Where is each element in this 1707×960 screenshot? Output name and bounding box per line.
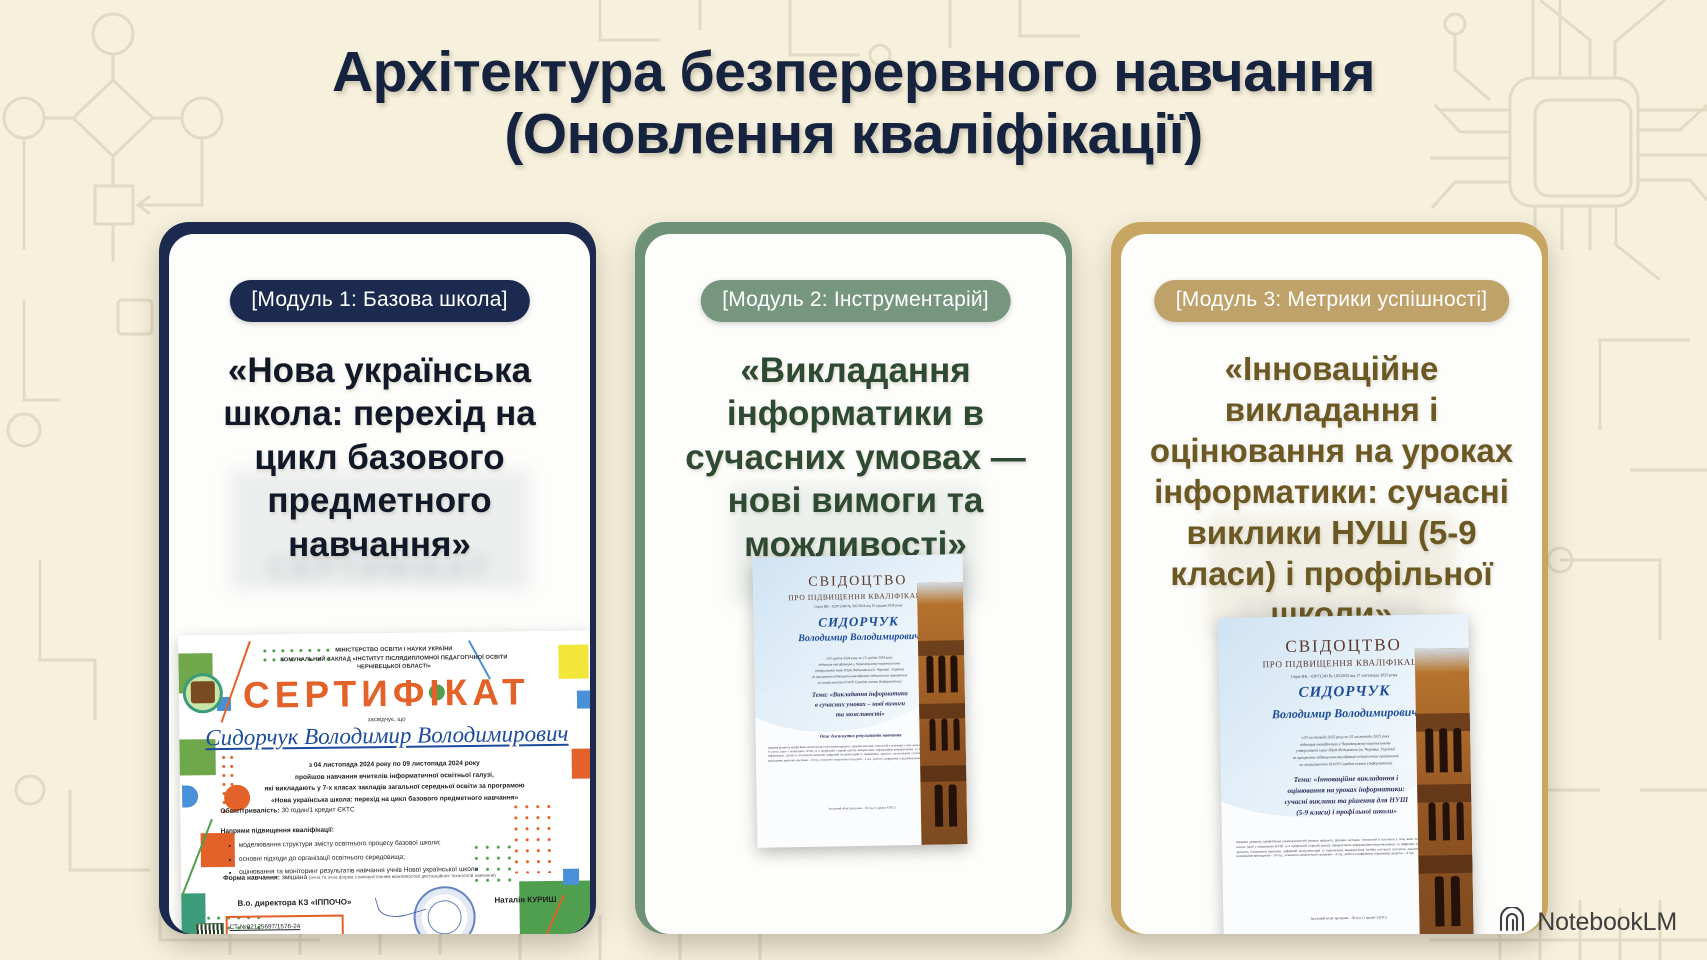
tower-window [941, 719, 948, 751]
form-value: змішана [282, 874, 307, 881]
tower-window [950, 656, 958, 693]
certificate-image-3: СВІДОЦТВО ПРО ПІДВИЩЕННЯ КВАЛІФІКАЦІЇ Се… [1218, 614, 1474, 934]
certificate-1-body: з 04 листопада 2024 року по 09 листопада… [220, 757, 570, 807]
tower-window [1428, 802, 1436, 841]
module-card-2-inner: СЕРТИФІКАТ [Модуль 2: Інструментарій] «В… [645, 234, 1066, 934]
tower-window [1425, 728, 1434, 773]
tower-band-2 [919, 703, 965, 720]
volume-value: 30 годин/1 кредит ЄКТС [281, 806, 354, 814]
volume-label: Обсяг/тривалість: [220, 807, 279, 815]
tower-window [948, 784, 957, 826]
tower-band-2 [1417, 784, 1471, 803]
tower-window [1442, 802, 1450, 841]
tower-window [934, 784, 943, 826]
module-3-course-title: «Інноваційне викладання і оцінювання на … [1147, 349, 1516, 635]
theme-label: Тема: [1294, 776, 1312, 784]
module-2-course-title: «Викладання інформатики в сучасних умова… [671, 349, 1040, 566]
notebooklm-label: NotebookLM [1537, 908, 1677, 937]
page-title: Архітектура безперервного навчання (Онов… [0, 42, 1707, 165]
certificate-1-details: Обсяг/тривалість: 30 годин/1 кредит ЄКТС… [220, 803, 556, 882]
tower-band-3 [1418, 855, 1472, 874]
module-1-badge: [Модуль 1: Базова школа] [229, 280, 529, 322]
module-1-course-title: «Нова українська школа: перехід на цикл … [195, 349, 564, 566]
deco-blue-2 [182, 785, 198, 807]
university-tower-photo-2 [917, 582, 968, 845]
form-label: Форма навчання: [223, 874, 280, 882]
official-stamp-icon [413, 886, 476, 934]
module-card-2[interactable]: СЕРТИФІКАТ [Модуль 2: Інструментарій] «В… [635, 222, 1072, 934]
certificate-1-ministry: МІНІСТЕРСТВО ОСВІТИ І НАУКИ УКРАЇНИ КОМУ… [236, 644, 551, 674]
module-card-3[interactable]: СВІДОЦТВО [Модуль 3: Метрики успішності]… [1111, 222, 1548, 934]
tower-sky [917, 582, 963, 604]
form-note: (очна та очна форма з використанням можл… [309, 873, 496, 880]
title-line-1: Архітектура безперервного навчання [332, 40, 1375, 104]
tower-window [926, 656, 934, 693]
tower-window [938, 656, 946, 693]
qr-code-icon [196, 923, 224, 934]
certificate-1-signer-name: Наталія КУРИШ [494, 895, 556, 905]
certificate-image-2: СВІДОЦТВО ПРО ПІДВИЩЕННЯ КВАЛІФІКАЦІЇ Се… [752, 554, 967, 848]
tower-window [1453, 728, 1462, 773]
tower-window [1435, 876, 1445, 926]
certificate-image-1: МІНІСТЕРСТВО ОСВІТИ І НАУКИ УКРАЇНИ КОМУ… [178, 630, 590, 934]
direction-item: моделювання структури змісту освітнього … [239, 837, 556, 851]
module-2-badge: [Модуль 2: Інструментарій] [700, 280, 1011, 322]
module-card-3-inner: СВІДОЦТВО [Модуль 3: Метрики успішності]… [1121, 234, 1542, 934]
theme-label: Тема: [812, 692, 828, 699]
theme-line-1: «Викладання інформатики [830, 690, 908, 698]
certificate-1-signer-title: В.о. директора КЗ «ІППОЧО» [237, 897, 351, 907]
certificate-1-headline: СЕРТИФІКАТ [179, 670, 590, 717]
deco-green-3 [519, 880, 590, 934]
notebooklm-watermark: NotebookLM [1498, 907, 1677, 938]
tower-sky [1415, 648, 1469, 673]
tower-window [1456, 802, 1464, 841]
module-card-1-inner: СЕРТИФІКАТ [Модуль 1: Базова школа] «Нов… [169, 234, 590, 934]
tower-window [1439, 728, 1448, 773]
tower-band-3 [920, 766, 966, 783]
university-tower-photo-3 [1415, 648, 1474, 934]
certificate-1-number: СТ №02125697/1576-24 11 листопада 2024 р… [230, 922, 301, 934]
certificate-1-recipient: Сидорчук Володимир Володимирович [179, 720, 590, 751]
doc-number: СТ №02125697/1576-24 [230, 922, 301, 932]
notebooklm-icon [1498, 907, 1528, 938]
tower-window [953, 719, 960, 751]
deco-orange-2 [572, 748, 590, 778]
module-cards-row: СЕРТИФІКАТ [Модуль 1: Базова школа] «Нов… [0, 222, 1707, 934]
theme-line-1: «Інноваційне викладання і [1314, 774, 1399, 783]
tower-window [929, 719, 936, 751]
module-3-badge: [Модуль 3: Метрики успішності] [1154, 280, 1509, 322]
tower-band-1 [918, 640, 964, 657]
module-card-1[interactable]: СЕРТИФІКАТ [Модуль 1: Базова школа] «Нов… [159, 222, 596, 934]
direction-item: основні підходи до організації освітньог… [239, 851, 556, 865]
tower-window [1451, 876, 1461, 926]
title-line-2: (Оновлення кваліфікації) [0, 104, 1707, 166]
doc-date: 11 листопада 2024 року [230, 932, 301, 934]
